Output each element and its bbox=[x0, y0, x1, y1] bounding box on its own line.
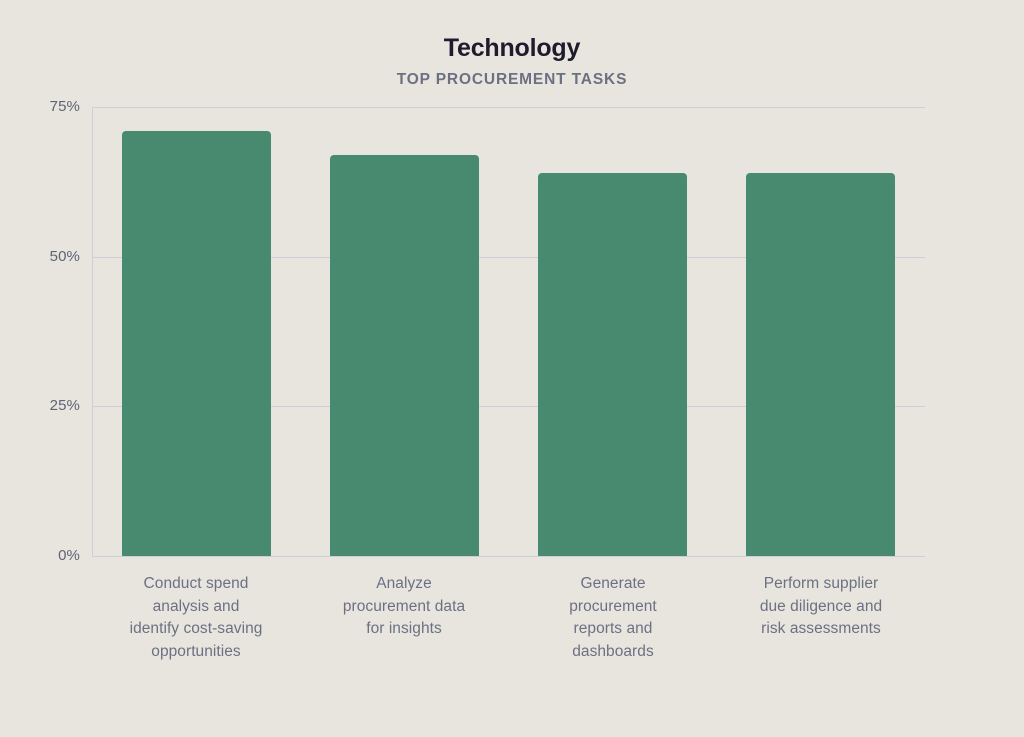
gridline bbox=[92, 107, 925, 108]
bar[interactable] bbox=[538, 173, 687, 556]
x-axis-category-label-line: Conduct spend bbox=[92, 573, 300, 596]
bar[interactable] bbox=[122, 131, 271, 556]
x-axis-category-label: Generateprocurementreports anddashboards bbox=[509, 573, 717, 663]
x-axis-category-label-line: procurement bbox=[509, 596, 717, 619]
x-axis-category-label-line: risk assessments bbox=[717, 618, 925, 641]
bar[interactable] bbox=[746, 173, 895, 556]
x-axis-category-label-line: Analyze bbox=[300, 573, 508, 596]
gridline bbox=[92, 556, 925, 557]
y-axis-tick-label: 75% bbox=[20, 99, 80, 115]
x-axis-category-label-line: opportunities bbox=[92, 641, 300, 664]
x-axis-category-label-line: Perform supplier bbox=[717, 573, 925, 596]
y-axis-tick-label: 50% bbox=[20, 249, 80, 265]
x-axis-category-label-line: analysis and bbox=[92, 596, 300, 619]
x-axis-category-label-line: identify cost-saving bbox=[92, 618, 300, 641]
x-axis-category-label-line: dashboards bbox=[509, 641, 717, 664]
y-axis-tick-label: 25% bbox=[20, 398, 80, 414]
bar[interactable] bbox=[330, 155, 479, 556]
x-axis-category-label-line: reports and bbox=[509, 618, 717, 641]
y-axis-tick-label: 0% bbox=[20, 548, 80, 564]
chart-subtitle: TOP PROCUREMENT TASKS bbox=[0, 71, 1024, 89]
x-axis-category-label: Analyzeprocurement datafor insights bbox=[300, 573, 508, 641]
x-axis-category-label-line: due diligence and bbox=[717, 596, 925, 619]
chart-header: Technology TOP PROCUREMENT TASKS bbox=[0, 33, 1024, 89]
chart-title: Technology bbox=[0, 33, 1024, 63]
x-axis-category-label-line: Generate bbox=[509, 573, 717, 596]
x-axis-category-label-line: procurement data bbox=[300, 596, 508, 619]
x-axis-category-label-line: for insights bbox=[300, 618, 508, 641]
x-axis-category-label: Perform supplierdue diligence andrisk as… bbox=[717, 573, 925, 641]
x-axis-category-label: Conduct spendanalysis andidentify cost-s… bbox=[92, 573, 300, 663]
chart-card: Technology TOP PROCUREMENT TASKS 0%25%50… bbox=[0, 0, 1024, 737]
plot-area bbox=[92, 107, 925, 556]
